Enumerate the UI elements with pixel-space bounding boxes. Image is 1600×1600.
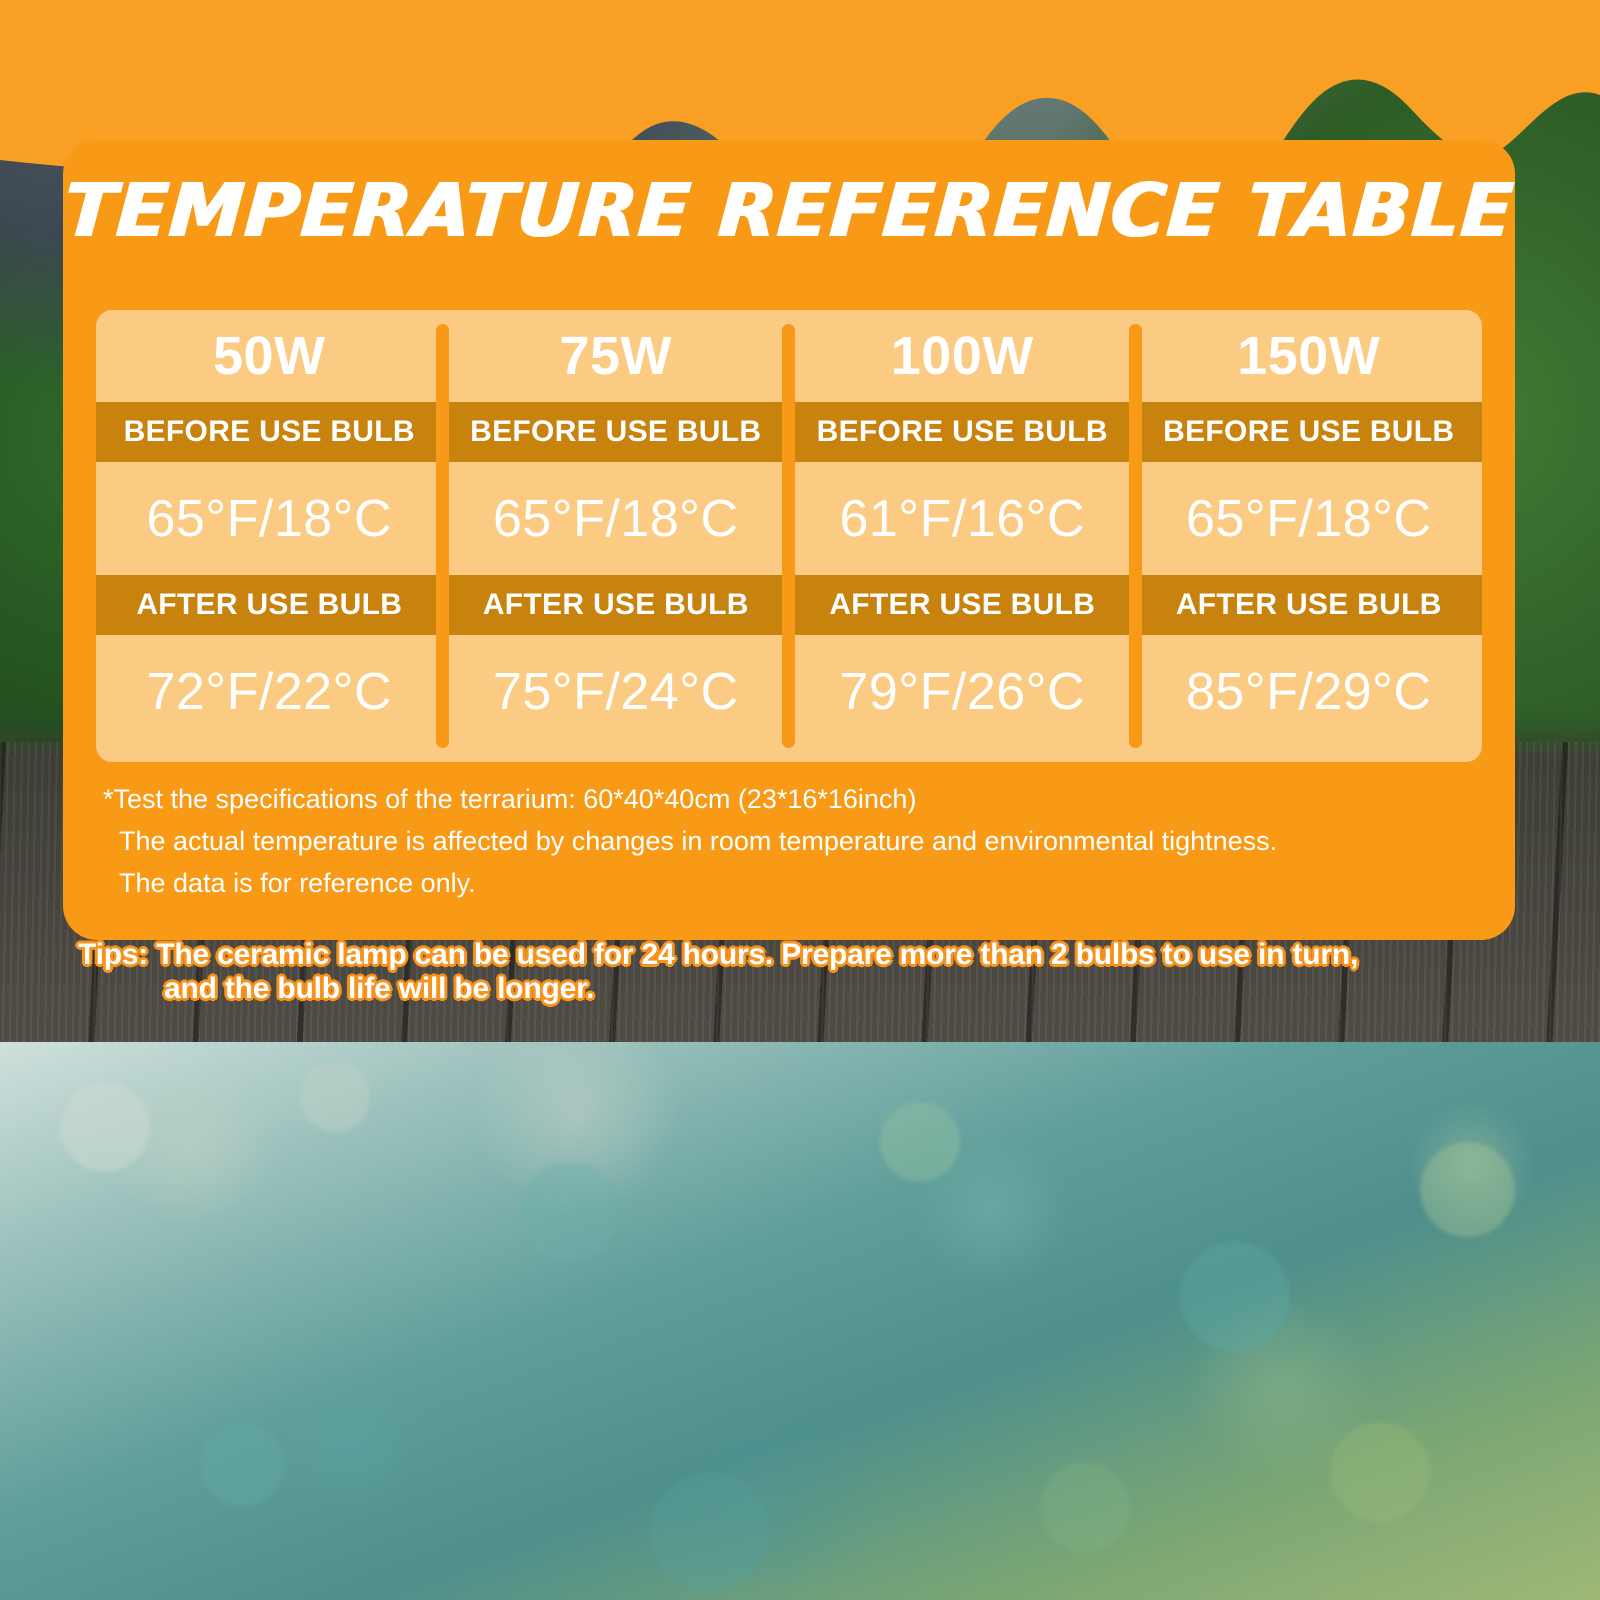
before-use-bulb-label: BEFORE USE BULB <box>96 402 443 462</box>
table-column-100w: 100W BEFORE USE BULB 61°F/16°C AFTER USE… <box>789 310 1136 762</box>
after-use-bulb-label: AFTER USE BULB <box>789 575 1136 635</box>
wattage-header: 75W <box>443 310 790 402</box>
footnote-line-1: *Test the specifications of the terrariu… <box>103 778 1473 820</box>
wattage-header: 50W <box>96 310 443 402</box>
before-use-temp: 61°F/16°C <box>789 462 1136 575</box>
wattage-header: 100W <box>789 310 1136 402</box>
tips-block: Tips: The ceramic lamp can be used for 2… <box>78 938 1528 1006</box>
wattage-header: 150W <box>1136 310 1483 402</box>
table-column-50w: 50W BEFORE USE BULB 65°F/18°C AFTER USE … <box>96 310 443 762</box>
before-use-temp: 65°F/18°C <box>1136 462 1483 575</box>
before-use-bulb-label: BEFORE USE BULB <box>1136 402 1483 462</box>
footnote-line-3: The data is for reference only. <box>103 862 1473 904</box>
after-use-bulb-label: AFTER USE BULB <box>443 575 790 635</box>
bokeh-background <box>0 1042 1600 1600</box>
after-use-temp: 85°F/29°C <box>1136 635 1483 748</box>
after-use-temp: 75°F/24°C <box>443 635 790 748</box>
temperature-reference-card: TEMPERATURE REFERENCE TABLE 50W BEFORE U… <box>63 140 1515 940</box>
table-column-150w: 150W BEFORE USE BULB 65°F/18°C AFTER USE… <box>1136 310 1483 762</box>
before-use-temp: 65°F/18°C <box>443 462 790 575</box>
tips-line-2: and the bulb life will be longer. <box>78 972 1528 1006</box>
column-divider <box>782 324 795 748</box>
infographic-page: TEMPERATURE REFERENCE TABLE 50W BEFORE U… <box>0 0 1600 1600</box>
after-use-bulb-label: AFTER USE BULB <box>1136 575 1483 635</box>
tips-line-1: Tips: The ceramic lamp can be used for 2… <box>78 938 1528 972</box>
after-use-temp: 79°F/26°C <box>789 635 1136 748</box>
after-use-temp: 72°F/22°C <box>96 635 443 748</box>
column-divider <box>1129 324 1142 748</box>
before-use-bulb-label: BEFORE USE BULB <box>789 402 1136 462</box>
heating-section: °F <box>0 1042 1600 1600</box>
temperature-table: 50W BEFORE USE BULB 65°F/18°C AFTER USE … <box>96 310 1482 762</box>
before-use-bulb-label: BEFORE USE BULB <box>443 402 790 462</box>
before-use-temp: 65°F/18°C <box>96 462 443 575</box>
page-title: TEMPERATURE REFERENCE TABLE <box>60 168 1518 254</box>
top-section: TEMPERATURE REFERENCE TABLE 50W BEFORE U… <box>0 0 1600 1042</box>
column-divider <box>436 324 449 748</box>
after-use-bulb-label: AFTER USE BULB <box>96 575 443 635</box>
footnote-line-2: The actual temperature is affected by ch… <box>103 820 1473 862</box>
footnote-block: *Test the specifications of the terrariu… <box>103 778 1473 904</box>
table-column-75w: 75W BEFORE USE BULB 65°F/18°C AFTER USE … <box>443 310 790 762</box>
